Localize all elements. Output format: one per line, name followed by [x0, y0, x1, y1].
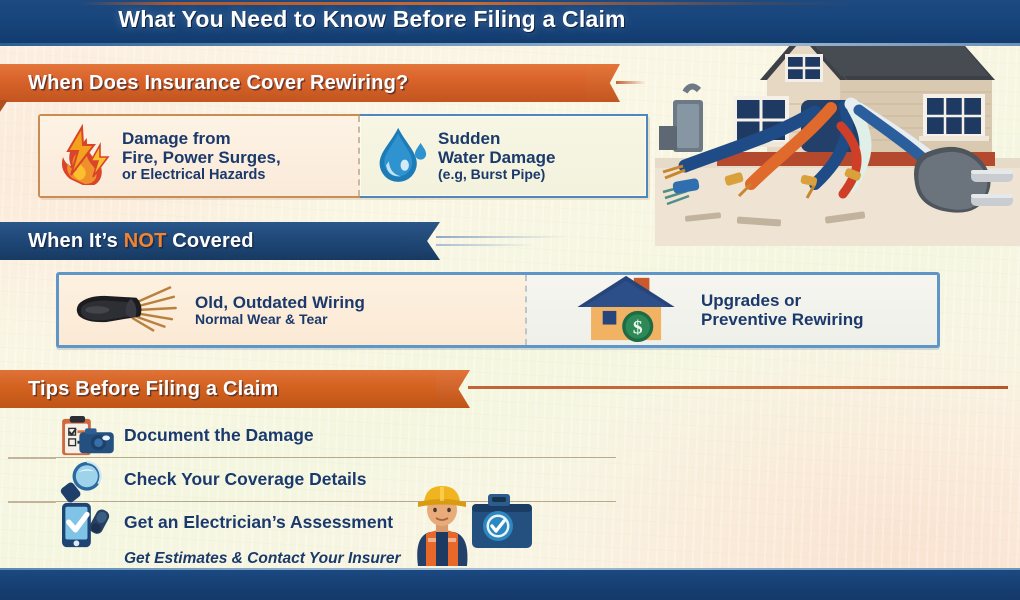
section-title-not-covered: When It’s NOT Covered [0, 230, 254, 253]
ribbon-extension-line-2 [436, 244, 536, 246]
frayed-cable-icon [73, 281, 185, 340]
ribbon-extension-line [616, 81, 646, 84]
card-covered-item-water: Sudden Water Damage (e.g, Burst Pipe) [360, 114, 648, 198]
ribbon-fold-secondary [0, 100, 8, 116]
card-subline: (e.g, Burst Pipe) [438, 167, 555, 183]
card-line-2: Preventive Rewiring [701, 310, 864, 329]
house-dollar-icon: $ [569, 272, 687, 349]
card-covered-text-water: Sudden Water Damage (e.g, Burst Pipe) [438, 129, 555, 183]
tip-subnote-label: Get Estimates & Contact Your Insurer [124, 550, 401, 568]
list-item-tip-1: Document the Damage [56, 414, 616, 458]
water-drop-icon [374, 124, 428, 189]
card-line-1: Old, Outdated Wiring [195, 293, 365, 312]
card-covered-item-fire: Damage from Fire, Power Surges, or Elect… [40, 116, 360, 196]
ribbon-extension-line [468, 386, 1008, 389]
card-not-covered-text-old-wiring: Old, Outdated Wiring Normal Wear & Tear [195, 293, 365, 328]
card-line-2: Fire, Power Surges, [122, 148, 281, 167]
card-line-2: Water Damage [438, 148, 555, 167]
phone-checkmark-icon [56, 501, 114, 543]
fire-lightning-icon [50, 123, 114, 190]
footer-rule [0, 568, 1020, 570]
title-part-post: Covered [167, 230, 254, 252]
section-title-tips: Tips Before Filing a Claim [0, 378, 278, 401]
tip-label-2: Check Your Coverage Details [124, 469, 367, 490]
tip-label-3: Get an Electrician’s Assessment [124, 512, 393, 533]
card-line-1: Damage from [122, 129, 281, 148]
clipboard-camera-icon [56, 415, 114, 457]
card-line-1: Upgrades or [701, 291, 864, 310]
card-not-covered-text-upgrades: Upgrades or Preventive Rewiring [701, 291, 864, 329]
ribbon-tail [406, 222, 440, 260]
section-title-covered: When Does Insurance Cover Rewiring? [0, 72, 408, 95]
page-title: What You Need to Know Before Filing a Cl… [0, 6, 744, 33]
card-line-3: or Electrical Hazards [122, 167, 281, 183]
tip-divider-stub [8, 501, 56, 503]
magnifying-glass-icon [56, 459, 114, 501]
card-covered: Damage from Fire, Power Surges, or Elect… [38, 114, 648, 198]
infographic-canvas: What You Need to Know Before Filing a Cl… [0, 0, 1020, 600]
section-ribbon-tips: Tips Before Filing a Claim [0, 370, 456, 408]
header-top-rule [80, 2, 860, 5]
card-not-covered: Old, Outdated Wiring Normal Wear & Tear … [56, 272, 940, 348]
card-subline: Normal Wear & Tear [195, 312, 365, 328]
footer-band [0, 568, 1020, 600]
card-line-1: Sudden [438, 129, 555, 148]
tip-divider-stub [8, 457, 56, 459]
section-ribbon-covered: When Does Insurance Cover Rewiring? [0, 64, 606, 102]
title-part-highlight: NOT [124, 230, 167, 252]
electrician-with-toolbox [400, 478, 570, 566]
ribbon-tail [586, 64, 620, 102]
ribbon-tail [436, 370, 470, 408]
header-bottom-rule [0, 43, 1020, 46]
card-not-covered-item-upgrades: $ Upgrades or Preventive Rewiring [527, 275, 937, 345]
ribbon-extension-line [436, 236, 566, 238]
card-not-covered-item-old-wiring: Old, Outdated Wiring Normal Wear & Tear [59, 275, 527, 345]
card-covered-text-fire: Damage from Fire, Power Surges, or Elect… [122, 129, 281, 183]
section-ribbon-not-covered: When It’s NOT Covered [0, 222, 426, 260]
tip-label-1: Document the Damage [124, 425, 314, 446]
title-part-pre: When It’s [28, 230, 124, 252]
svg-text:$: $ [633, 317, 643, 338]
